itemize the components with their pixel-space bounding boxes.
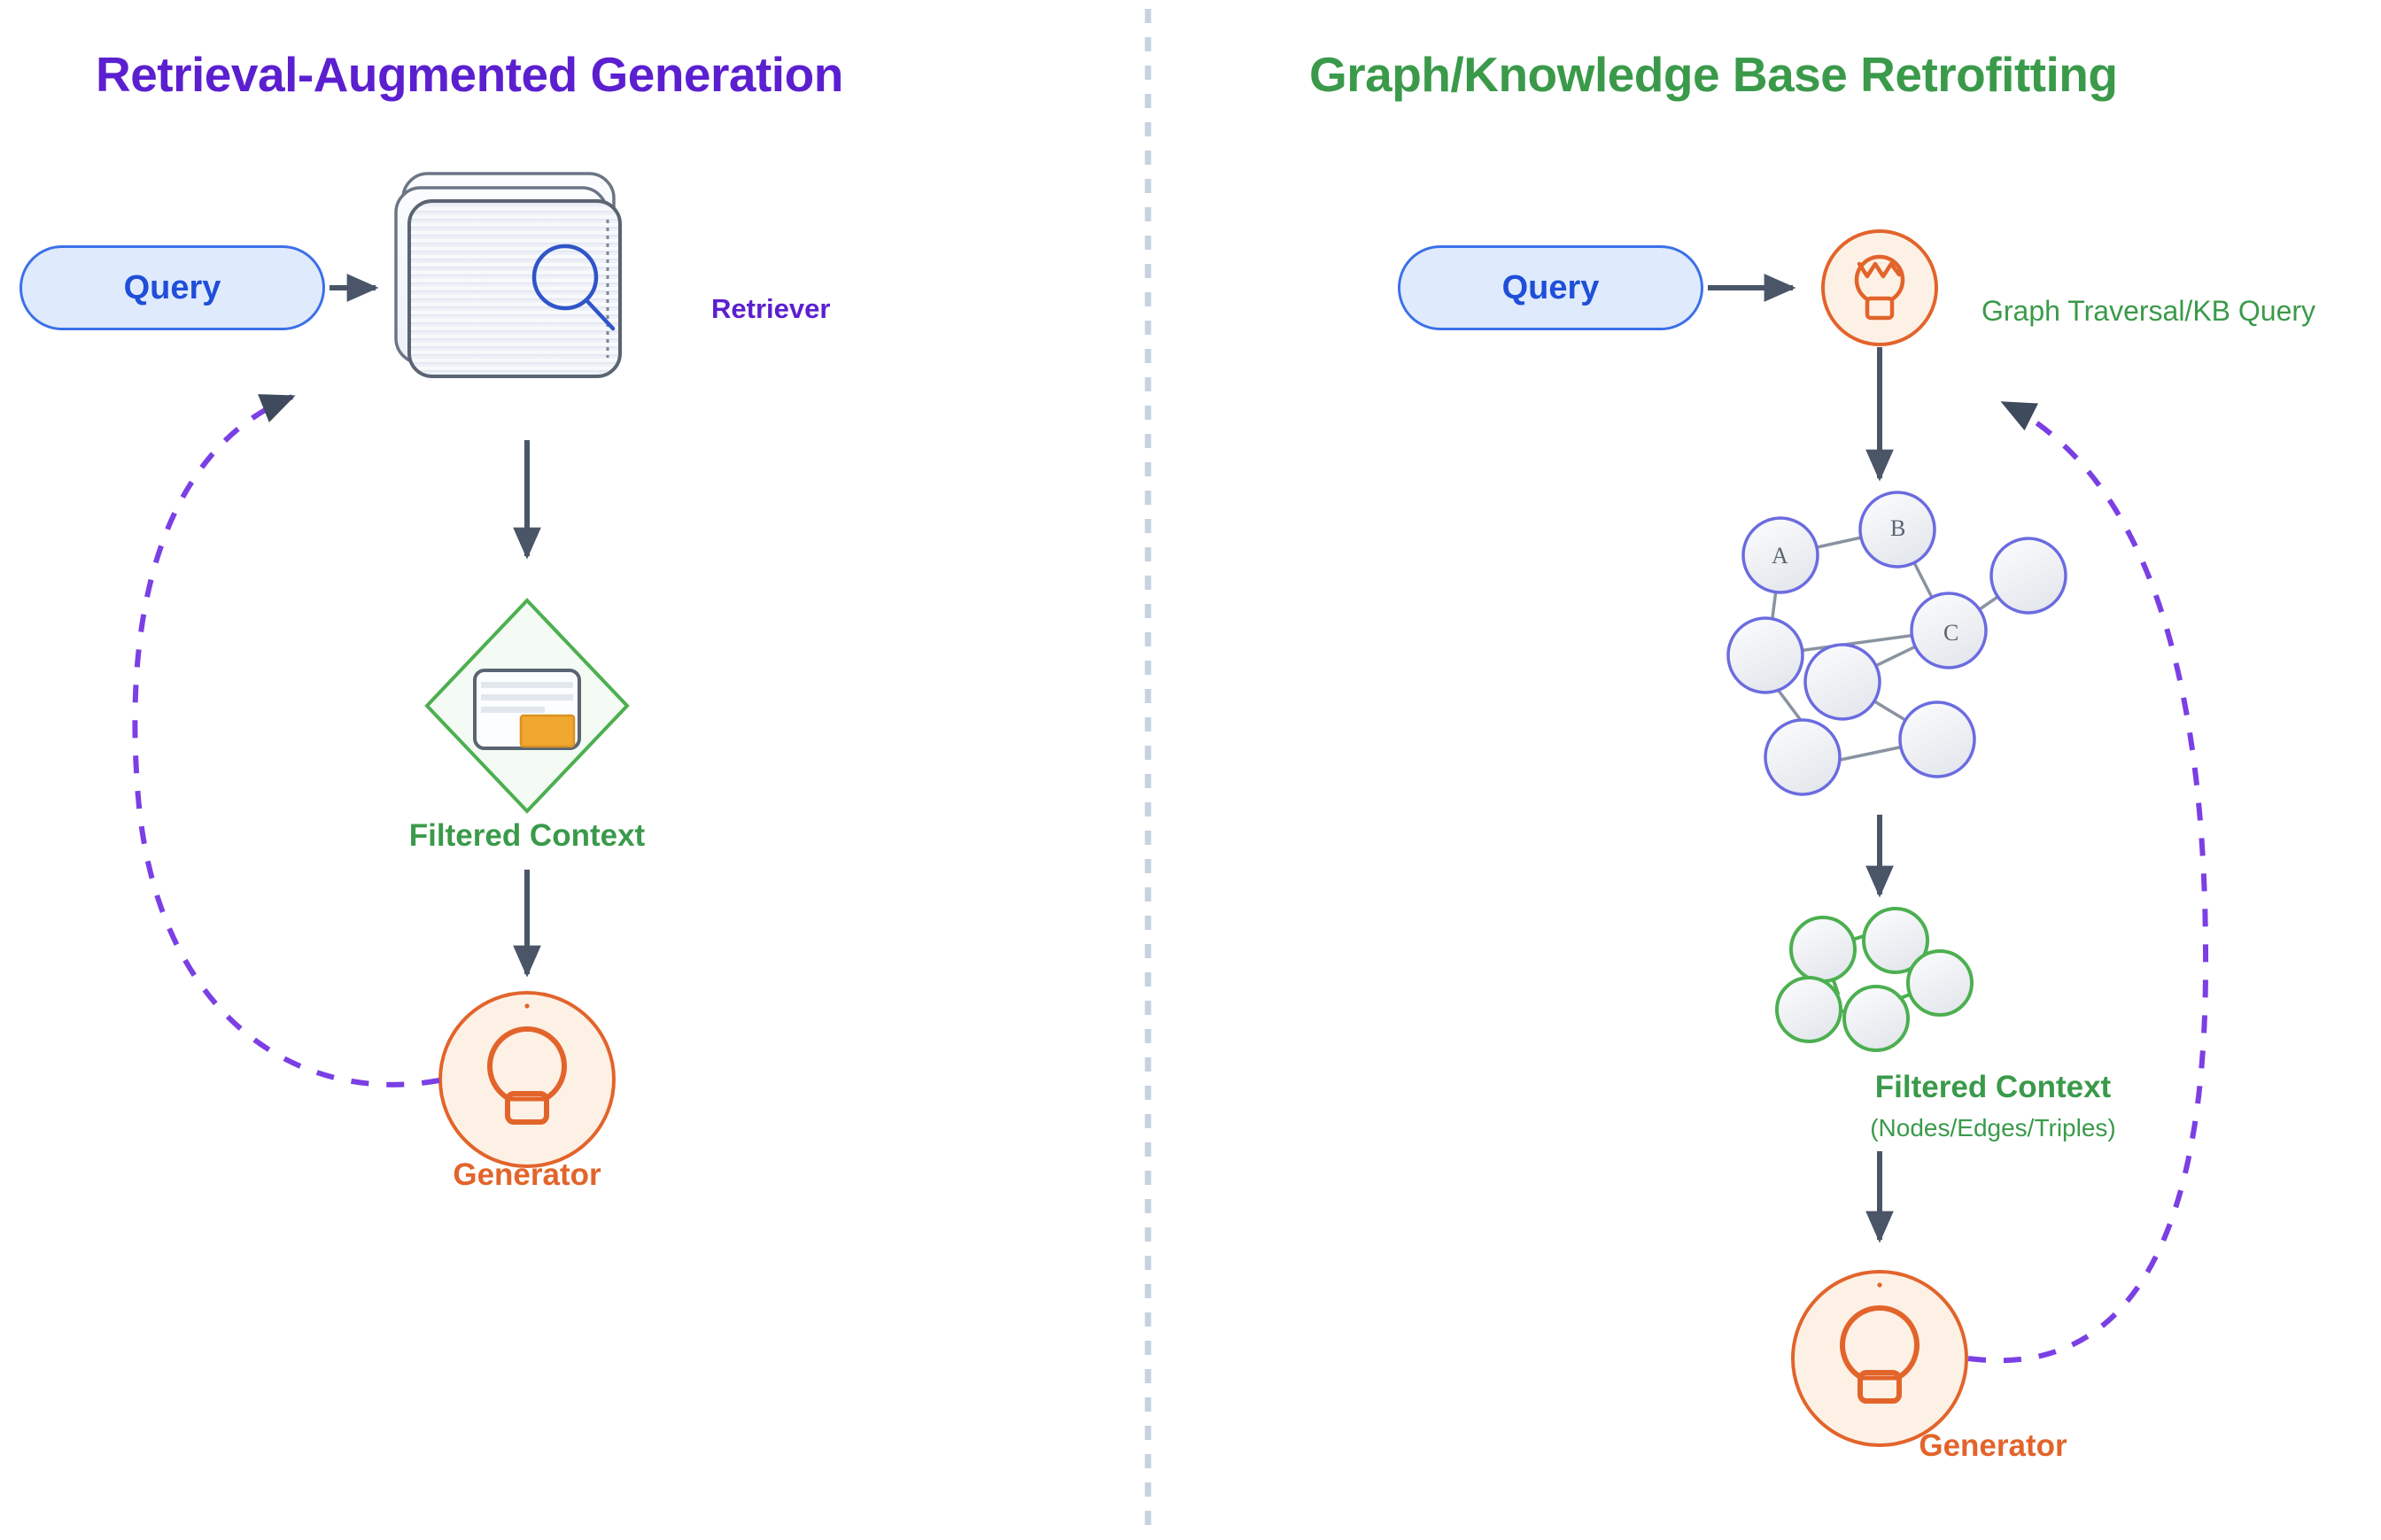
filtered-context-sublabel-right: (Nodes/Edges/Triples) [1488, 1114, 2381, 1142]
feedback-loop-left [135, 397, 439, 1085]
filtered-subgraph-cluster [1777, 909, 1972, 1050]
query-node-right[interactable]: Query [1398, 245, 1703, 330]
query-node-left[interactable]: Query [19, 245, 325, 330]
graph-node-label-b: B [1890, 515, 1905, 542]
graph-node [1900, 702, 1974, 777]
generator-label-left: Generator [0, 1157, 1054, 1193]
highlighted-chunk [521, 716, 574, 747]
graph-traversal-circle [1823, 231, 1936, 344]
filtered-context-label-left: Filtered Context [0, 818, 1054, 854]
page-title-right: Graph/Knowledge Base Retrofitting [1309, 46, 2117, 103]
filtered-context-diamond [427, 600, 627, 811]
graph-node [1765, 720, 1840, 794]
graph-node [1728, 618, 1803, 693]
graph-node-label-a: A [1772, 543, 1788, 569]
query-label-right: Query [1502, 269, 1600, 307]
subgraph-node [1791, 917, 1855, 981]
generator-label-right: Generator [1488, 1428, 2381, 1464]
generator-circle-right [1793, 1272, 1966, 1445]
subgraph-node [1908, 951, 1972, 1015]
generator-circle-left [440, 993, 614, 1166]
graph-node [1991, 538, 2066, 613]
diagram-canvas [0, 0, 2381, 1540]
retriever-label: Retriever [711, 293, 830, 325]
query-label-left: Query [124, 269, 221, 307]
page-title-left: Retrieval-Augmented Generation [96, 46, 843, 103]
graph-node [1805, 645, 1880, 719]
filtered-context-label-right: Filtered Context [1488, 1070, 2381, 1105]
retriever-document-stack-icon [396, 174, 620, 376]
graph-node-label-c: C [1943, 620, 1958, 646]
graph-traversal-label: Graph Traversal/KB Query [1982, 295, 2315, 328]
subgraph-node [1777, 978, 1841, 1041]
subgraph-node [1844, 987, 1908, 1050]
